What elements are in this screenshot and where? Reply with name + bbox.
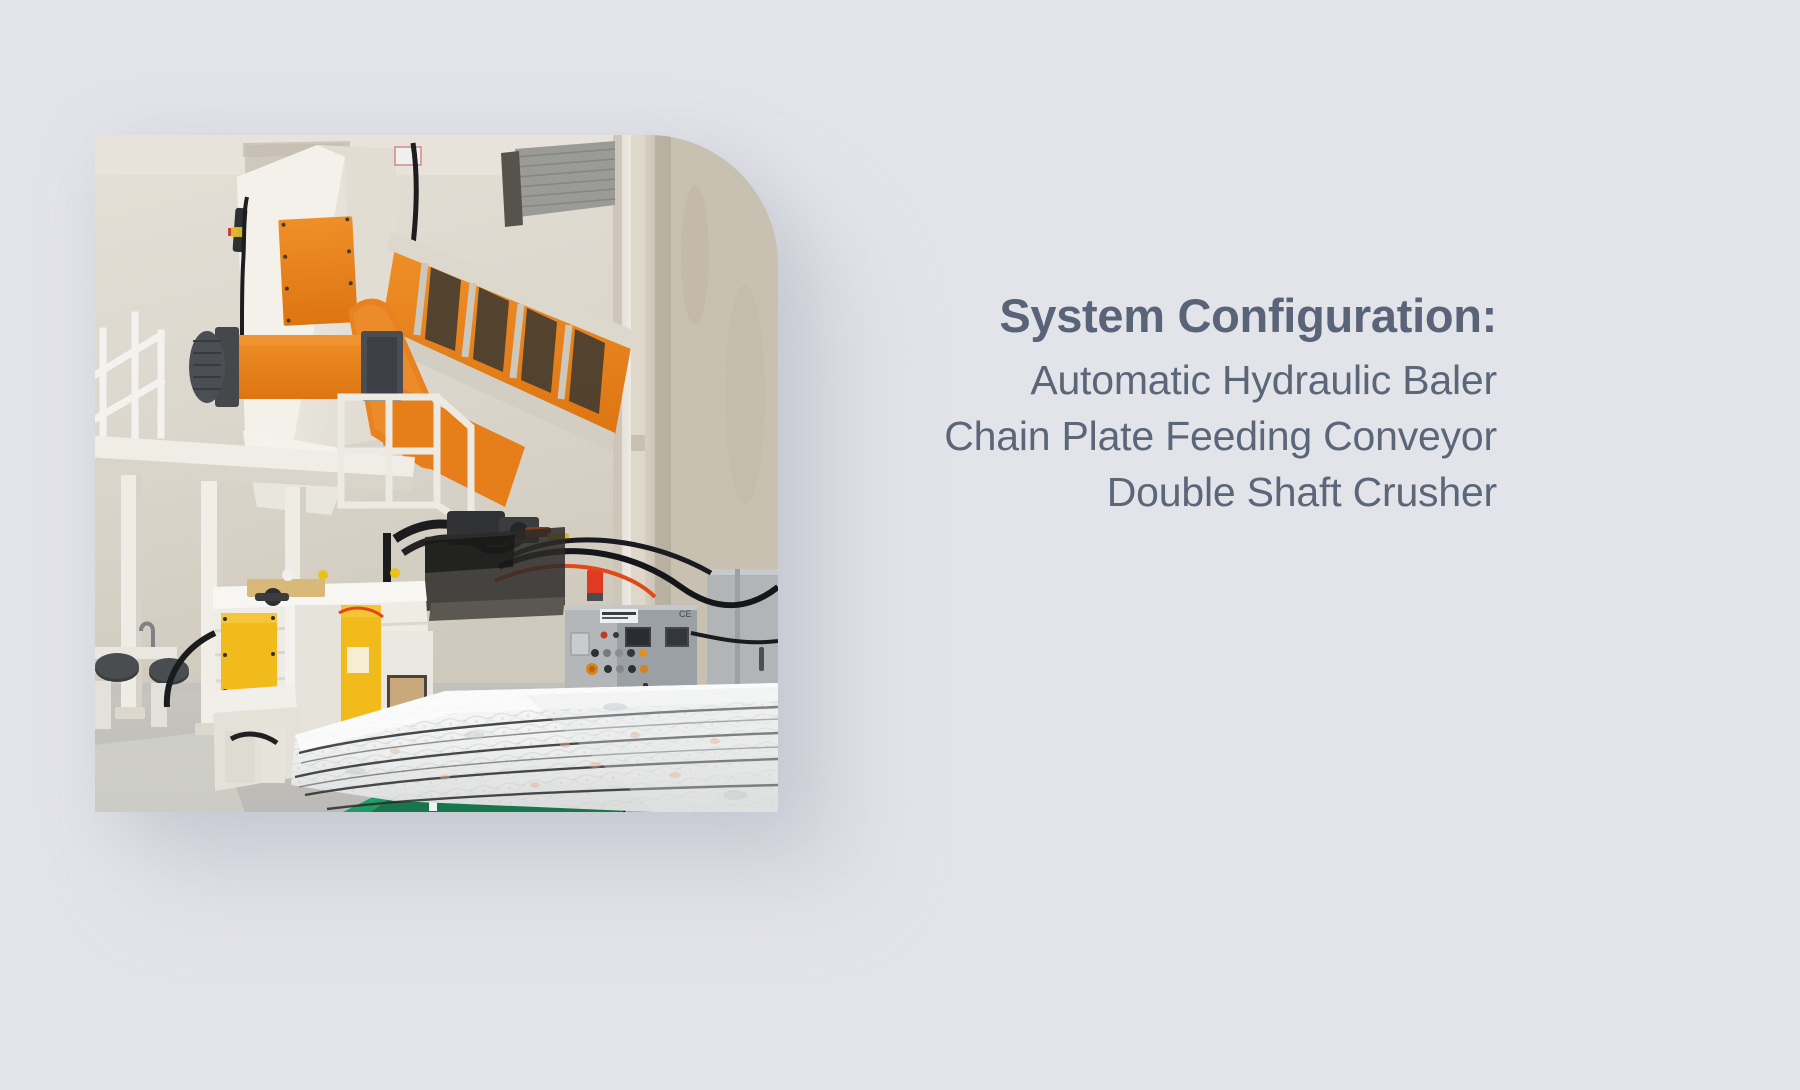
page-root: CE [0, 0, 1800, 1090]
svg-text:CE: CE [679, 609, 692, 619]
spec-item-conveyor: Chain Plate Feeding Conveyor [797, 409, 1497, 465]
page-title: System Configuration: [797, 288, 1497, 343]
alarm-beacon [587, 569, 603, 597]
spec-item-crusher: Double Shaft Crusher [797, 465, 1497, 521]
baler-guard-panel-left [221, 613, 277, 695]
configuration-text-block: System Configuration: Automatic Hydrauli… [797, 288, 1497, 521]
spec-item-baler: Automatic Hydraulic Baler [797, 353, 1497, 409]
recycling-line-photo: CE [95, 135, 778, 812]
crusher-access-panel [278, 216, 357, 326]
photo-svg: CE [95, 135, 778, 812]
